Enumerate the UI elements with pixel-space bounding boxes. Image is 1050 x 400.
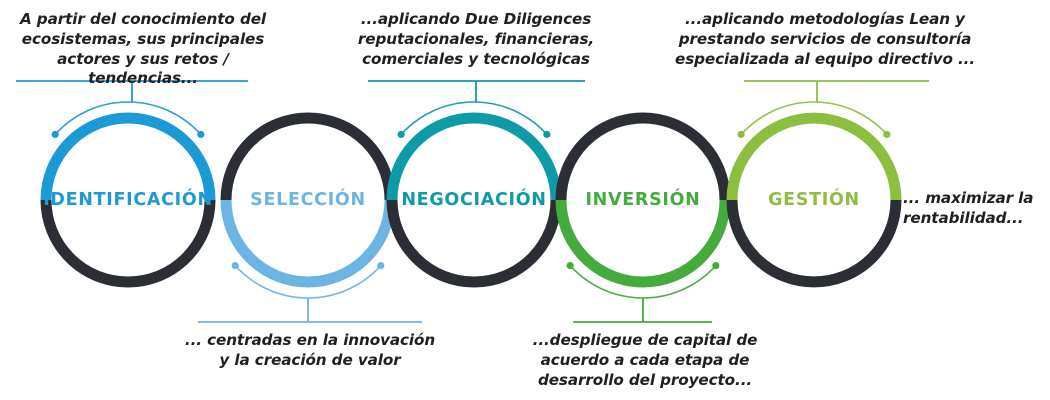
ring-seleccion-bottom-arc [226, 200, 390, 282]
connector-arc-gestion [741, 102, 887, 134]
callout-gestion: ...aplicando metodologías Lean y prestan… [672, 10, 978, 69]
process-diagram: IDENTIFICACIÓNSELECCIÓNNEGOCIACIÓNINVERS… [0, 0, 1050, 400]
connector-arc-inversion [570, 266, 716, 298]
connector-callout-gestion [738, 81, 929, 138]
callout-negociacion: ...aplicando Due Diligences reputacional… [352, 10, 600, 69]
ring-negociacion-top-arc [392, 118, 556, 200]
callout-inversion: ...despliegue de capital de acuerdo a ca… [520, 331, 770, 390]
callout-seleccion: ... centradas en la innovación y la crea… [170, 331, 450, 371]
callout-identificacion: A partir del conocimiento del ecosistema… [8, 10, 278, 89]
ring-negociacion-bottom-arc [392, 200, 556, 282]
ring-seleccion-top-arc [226, 118, 390, 200]
ring-gestion-top-arc [732, 118, 896, 200]
connector-dot-inversion-0 [567, 262, 574, 269]
connector-callout-identificacion [16, 81, 248, 138]
connector-dot-identificacion-1 [197, 131, 204, 138]
ring-identificacion-top-arc [46, 118, 210, 200]
ring-label-negociacion[interactable]: NEGOCIACIÓN [401, 190, 546, 210]
connector-arc-negociacion [401, 102, 547, 134]
connector-arc-seleccion [235, 266, 381, 298]
connector-dot-gestion-1 [883, 131, 890, 138]
connector-arc-identificacion [55, 102, 201, 134]
ring-inversion-top-arc [561, 118, 725, 200]
connector-dot-inversion-1 [712, 262, 719, 269]
ring-gestion-bottom-arc [732, 200, 896, 282]
callout-rentabilidad: ... maximizar la rentabilidad... [903, 189, 1043, 229]
ring-identificacion-bottom-arc [46, 200, 210, 282]
connector-dot-gestion-0 [738, 131, 745, 138]
ring-label-inversion[interactable]: INVERSIÓN [585, 190, 700, 210]
connector-dot-seleccion-0 [232, 262, 239, 269]
connector-callout-seleccion [198, 262, 422, 322]
ring-inversion-bottom-arc [561, 200, 725, 282]
connector-callout-inversion [567, 262, 720, 322]
ring-label-seleccion[interactable]: SELECCIÓN [250, 190, 366, 210]
connector-dot-seleccion-1 [377, 262, 384, 269]
ring-label-identificacion[interactable]: IDENTIFICACIÓN [43, 190, 213, 210]
connector-dot-identificacion-0 [52, 131, 59, 138]
connector-dot-negociacion-1 [543, 131, 550, 138]
ring-label-gestion[interactable]: GESTIÓN [768, 190, 860, 210]
connector-callout-negociacion [368, 81, 585, 138]
connector-dot-negociacion-0 [398, 131, 405, 138]
